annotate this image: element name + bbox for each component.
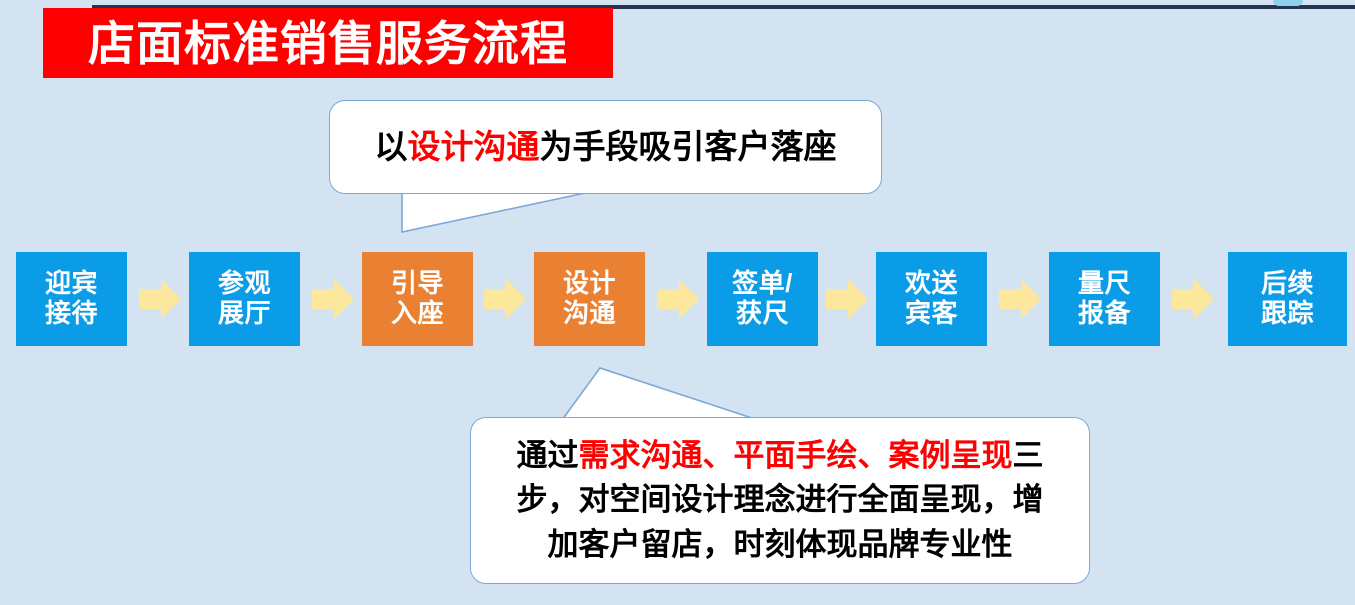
flow-arrow-icon-4: [657, 278, 699, 320]
process-step-2[interactable]: 参观展厅: [189, 252, 300, 346]
process-step-3[interactable]: 引导入座: [362, 252, 473, 346]
callout-top[interactable]: 以设计沟通为手段吸引客户落座: [329, 100, 882, 194]
flow-arrow-icon-1: [139, 278, 181, 320]
process-step-2-label-1: 参观: [218, 269, 271, 299]
process-step-4-label-1: 设计: [563, 269, 616, 299]
process-step-5[interactable]: 签单/获尺: [707, 252, 818, 346]
page-title: 店面标准销售服务流程: [88, 20, 568, 67]
text-segment: 三: [1013, 438, 1044, 473]
top-tab-handle[interactable]: [1273, 0, 1303, 6]
process-step-1-label-2: 接待: [45, 299, 98, 329]
text-segment: 步，对空间设计理念进行全面呈现，增: [517, 482, 1044, 517]
process-step-4[interactable]: 设计沟通: [534, 252, 645, 346]
callout-bottom-line-3: 加客户留店，时刻体现品牌专业性: [548, 523, 1013, 567]
callout-bottom-tail-icon: [560, 360, 760, 422]
process-step-8[interactable]: 后续跟踪: [1228, 252, 1347, 346]
process-step-5-label-2: 获尺: [736, 299, 789, 329]
slide-title-banner: 店面标准销售服务流程: [43, 8, 613, 78]
process-step-6-label-2: 宾客: [905, 299, 958, 329]
callout-bottom-line-1: 通过需求沟通、平面手绘、案例呈现三: [517, 434, 1044, 478]
text-segment: 加客户留店，时刻体现品牌专业性: [548, 527, 1013, 562]
sales-process-flow: 迎宾接待参观展厅引导入座设计沟通签单/获尺欢送宾客量尺报备后续跟踪: [0, 252, 1355, 348]
process-step-3-label-1: 引导: [391, 269, 444, 299]
process-step-4-label-2: 沟通: [563, 299, 616, 329]
process-step-1[interactable]: 迎宾接待: [16, 252, 127, 346]
text-segment: 需求沟通、平面手绘、案例呈现: [579, 438, 1013, 473]
flow-arrow-icon-7: [1172, 278, 1214, 320]
process-step-2-label-2: 展厅: [218, 299, 271, 329]
process-step-5-label-1: 签单/: [732, 269, 793, 299]
process-step-3-label-2: 入座: [391, 299, 444, 329]
process-step-1-label-1: 迎宾: [45, 269, 98, 299]
text-segment: 设计沟通: [408, 128, 540, 165]
process-step-8-label-2: 跟踪: [1261, 299, 1314, 329]
text-segment: 为手段吸引客户落座: [540, 128, 837, 165]
process-step-6[interactable]: 欢送宾客: [876, 252, 987, 346]
process-step-7-label-1: 量尺: [1078, 269, 1131, 299]
flow-arrow-icon-3: [484, 278, 526, 320]
process-step-7[interactable]: 量尺报备: [1049, 252, 1160, 346]
callout-bottom[interactable]: 通过需求沟通、平面手绘、案例呈现三 步，对空间设计理念进行全面呈现，增 加客户留…: [470, 417, 1090, 584]
flow-arrow-icon-5: [826, 278, 868, 320]
callout-bottom-line-2: 步，对空间设计理念进行全面呈现，增: [517, 478, 1044, 522]
process-step-6-label-1: 欢送: [905, 269, 958, 299]
flow-arrow-icon-6: [999, 278, 1041, 320]
process-step-7-label-2: 报备: [1078, 299, 1131, 329]
flow-arrow-icon-2: [312, 278, 354, 320]
text-segment: 通过: [517, 438, 579, 473]
text-segment: 以: [375, 128, 408, 165]
callout-top-line-1: 以设计沟通为手段吸引客户落座: [375, 127, 837, 167]
process-step-8-label-1: 后续: [1261, 269, 1314, 299]
